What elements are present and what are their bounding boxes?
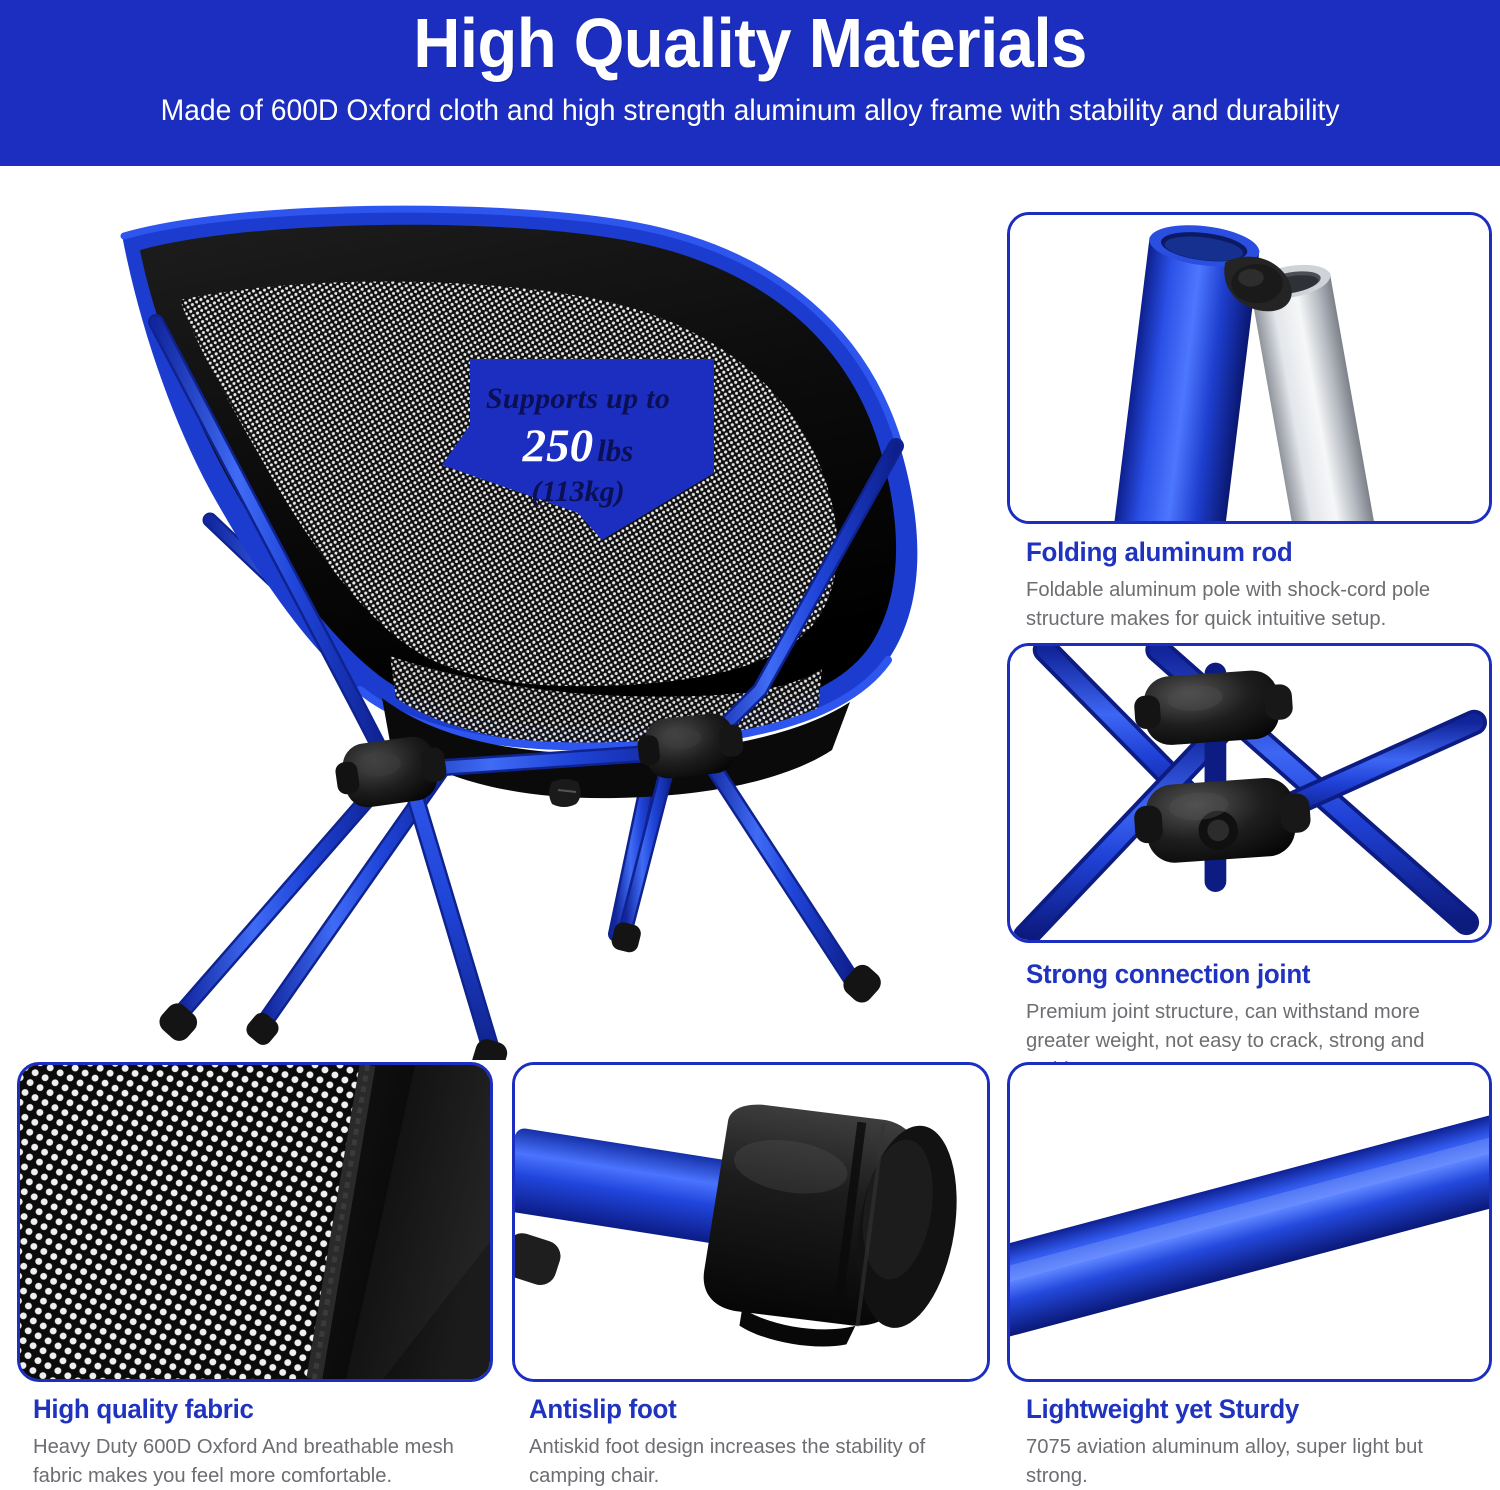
feature-title-folding-aluminum-rod: Folding aluminum rod [1026,537,1475,568]
feature-caption-lightweight-yet-sturdy: Lightweight yet Sturdy 7075 aviation alu… [1026,1394,1496,1490]
main-product-image [60,190,990,1060]
feature-title-strong-connection-joint: Strong connection joint [1026,959,1475,990]
feature-title-high-quality-fabric: High quality fabric [33,1394,482,1425]
header-banner: High Quality Materials Made of 600D Oxfo… [0,0,1500,166]
feature-body-high-quality-fabric: Heavy Duty 600D Oxford And breathable me… [33,1432,494,1490]
feature-caption-antislip-foot: Antislip foot Antiskid foot design incre… [529,1394,997,1490]
feature-image-antislip-foot [512,1062,990,1382]
feature-image-high-quality-fabric [17,1062,493,1382]
feature-image-strong-connection-joint [1007,643,1492,943]
page-subtitle: Made of 600D Oxford cloth and high stren… [160,94,1339,128]
feature-image-lightweight-yet-sturdy [1007,1062,1492,1382]
page-title: High Quality Materials [413,6,1086,82]
feature-title-antislip-foot: Antislip foot [529,1394,978,1425]
feature-body-lightweight-yet-sturdy: 7075 aviation aluminum alloy, super ligh… [1026,1432,1489,1490]
feature-caption-high-quality-fabric: High quality fabric Heavy Duty 600D Oxfo… [33,1394,501,1490]
feature-image-folding-aluminum-rod [1007,212,1492,524]
feature-body-antislip-foot: Antiskid foot design increases the stabi… [529,1432,990,1490]
feature-caption-folding-aluminum-rod: Folding aluminum rod Foldable aluminum p… [1026,537,1494,633]
feature-body-folding-aluminum-rod: Foldable aluminum pole with shock-cord p… [1026,575,1487,633]
feature-title-lightweight-yet-sturdy: Lightweight yet Sturdy [1026,1394,1477,1425]
